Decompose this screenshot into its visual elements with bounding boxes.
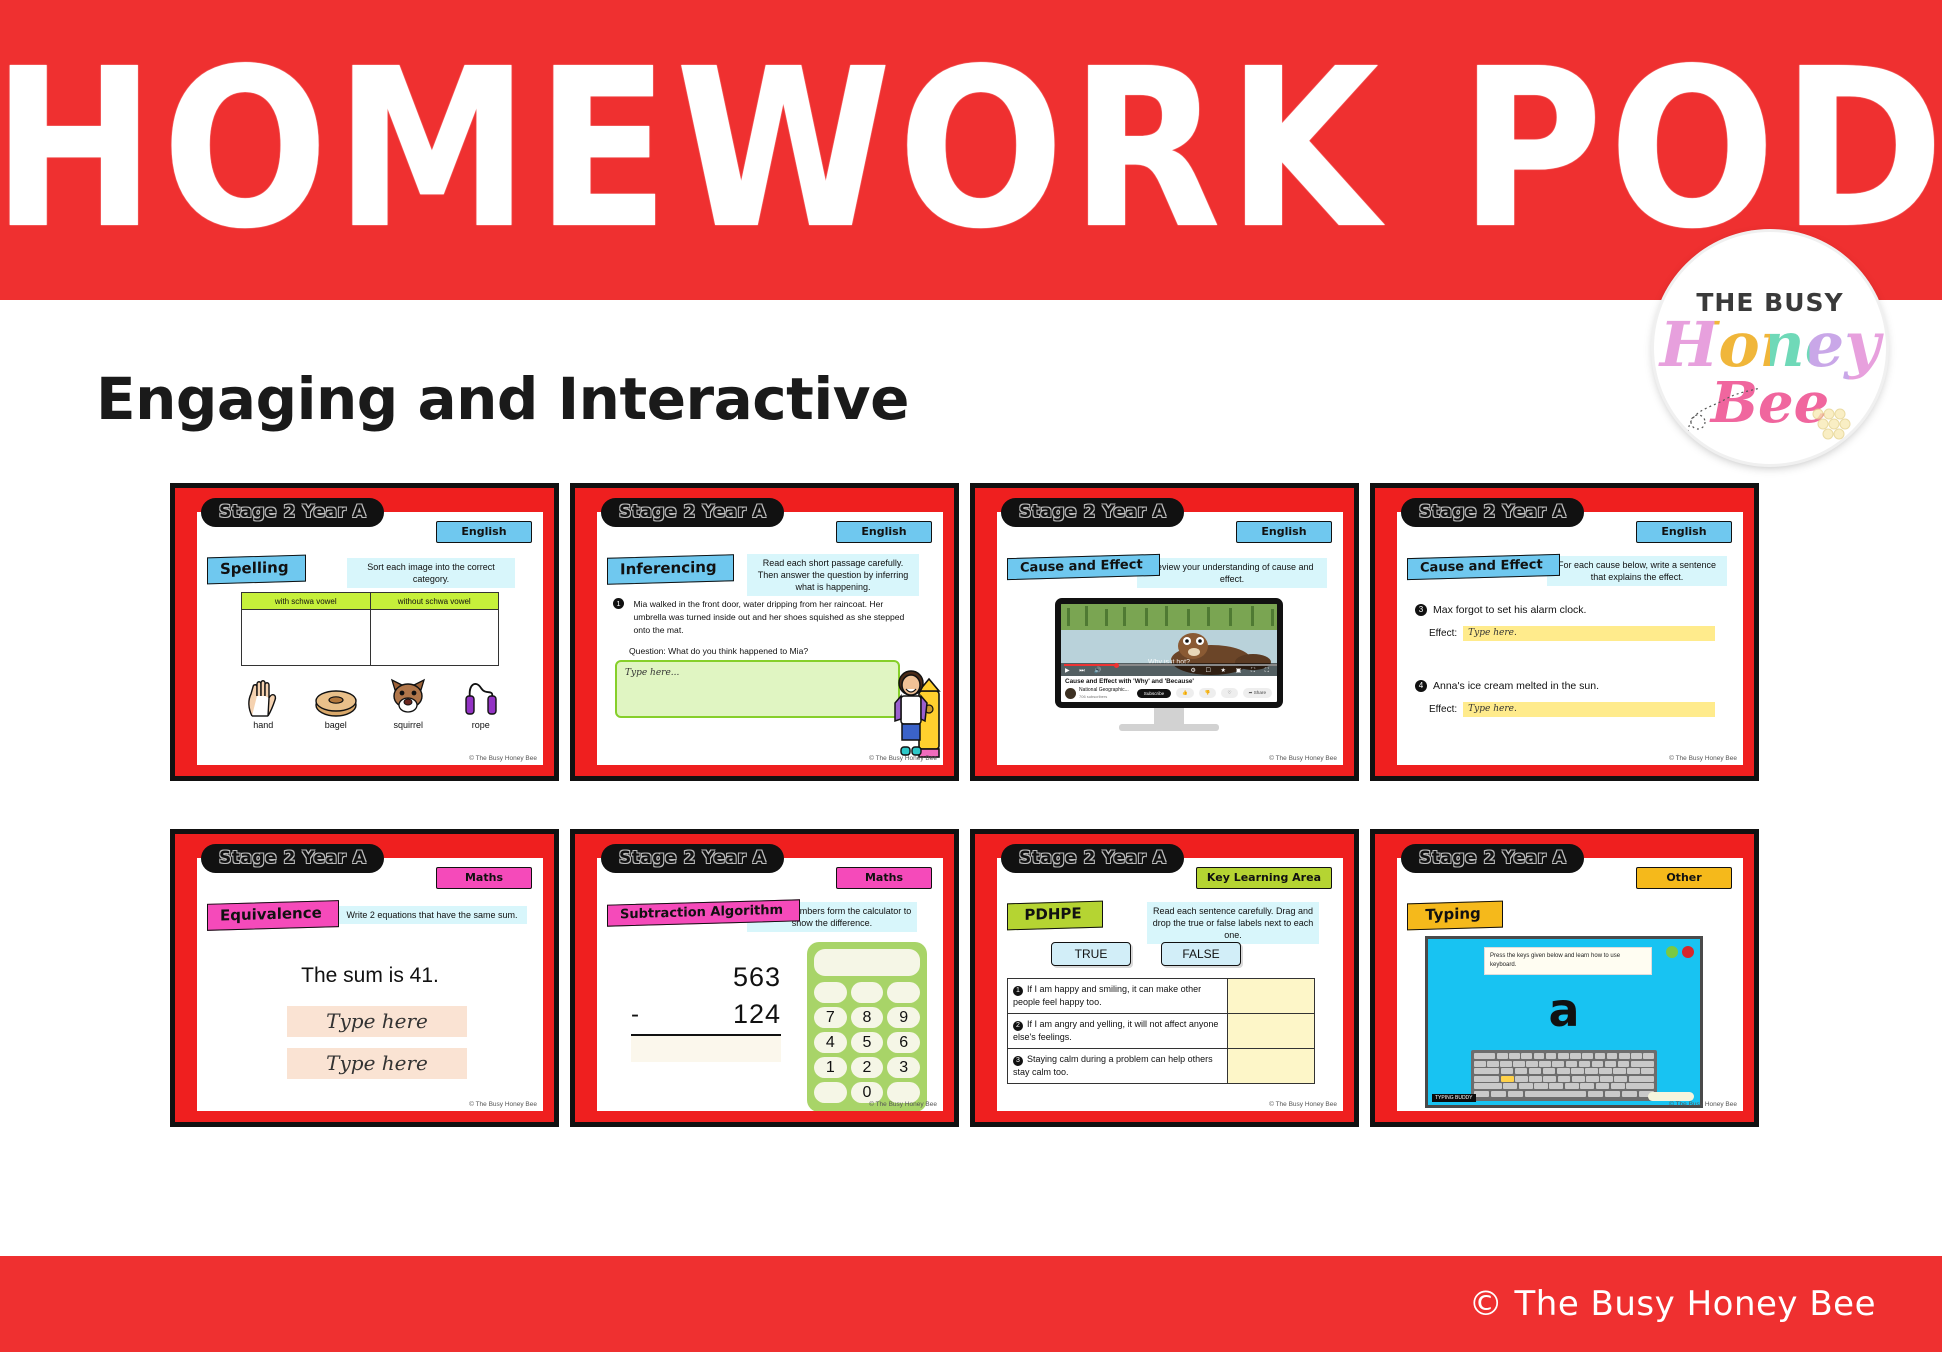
sum-prompt: The sum is 41. <box>197 964 543 988</box>
calc-key-5[interactable]: 5 <box>851 1032 884 1053</box>
label-true[interactable]: TRUE <box>1051 942 1131 966</box>
monitor-screen: Why is it hot? ▶ ⏭ 🔊 ⚙ ☐ ★ ▣ ⛶ ⛶ Cause a… <box>1055 598 1283 708</box>
subject-tag-maths: Maths <box>836 867 932 889</box>
calc-key-4[interactable]: 4 <box>814 1032 847 1053</box>
stage-pill: Stage 2 Year A <box>1001 498 1184 527</box>
calc-key-7[interactable]: 7 <box>814 1007 847 1028</box>
passage-block: 1 Mia walked in the front door, water dr… <box>613 598 913 656</box>
trees-icon <box>1061 604 1277 630</box>
bagel-icon <box>314 688 358 718</box>
computer-monitor: Why is it hot? ▶ ⏭ 🔊 ⚙ ☐ ★ ▣ ⛶ ⛶ Cause a… <box>1055 598 1283 731</box>
topic-tag-pdhpe: PDHPE <box>1007 901 1103 930</box>
hand-icon <box>244 678 282 718</box>
calc-key-9[interactable]: 9 <box>887 1007 920 1028</box>
squirrel-icon <box>388 678 428 718</box>
footer-copyright: © The Busy Honey Bee <box>1469 1284 1876 1324</box>
stage-pill: Stage 2 Year A <box>1401 844 1584 873</box>
subject-tag-maths: Maths <box>436 867 532 889</box>
target-letter: a <box>1428 983 1700 1037</box>
calc-key[interactable] <box>887 1082 920 1103</box>
slide-card-cause-effect-write[interactable]: Stage 2 Year A English Cause and Effect … <box>1370 483 1759 781</box>
drop-zone-with-schwa[interactable] <box>242 610 371 665</box>
instruction-text: Read each short passage carefully. Then … <box>747 554 919 596</box>
slide-card-typing[interactable]: Stage 2 Year A Other Typing Press the ke… <box>1370 829 1759 1127</box>
drop-zone[interactable] <box>1228 979 1314 1013</box>
column-header-with-schwa: with schwa vowel <box>242 593 371 610</box>
instruction-text: Review your understanding of cause and e… <box>1137 558 1327 588</box>
video-scrubber-handle[interactable] <box>1114 663 1119 668</box>
typing-app-brand: TYPING BUDDY <box>1432 1094 1476 1102</box>
subtrahend: 124 <box>733 999 781 1030</box>
channel-subscribers: 706 subscribers <box>1079 694 1129 699</box>
close-icon[interactable] <box>1682 946 1694 958</box>
stage-pill: Stage 2 Year A <box>601 844 784 873</box>
stage-pill: Stage 2 Year A <box>201 844 384 873</box>
card-credit: © The Busy Honey Bee <box>1269 755 1337 762</box>
calculator-display <box>814 949 920 976</box>
slide-thumbnail-grid: Stage 2 Year A English Spelling Sort eac… <box>170 483 1759 1127</box>
answer-textarea[interactable]: Type here... <box>615 660 900 718</box>
footer-banner: © The Busy Honey Bee <box>0 1256 1942 1352</box>
stage-pill: Stage 2 Year A <box>1001 844 1184 873</box>
calc-key-6[interactable]: 6 <box>887 1032 920 1053</box>
virtual-keyboard[interactable] <box>1471 1050 1657 1101</box>
subject-tag-english: English <box>836 521 932 543</box>
instruction-text: Read each sentence carefully. Drag and d… <box>1147 902 1319 944</box>
effect-input[interactable]: Type here. <box>1463 702 1715 717</box>
subject-tag-english: English <box>1236 521 1332 543</box>
picture-label: hand <box>231 720 295 730</box>
calc-key-0[interactable]: 0 <box>851 1082 884 1103</box>
cause-effect-item: 3 Max forgot to set his alarm clock. Eff… <box>1415 604 1715 641</box>
slide-card-inferencing[interactable]: Stage 2 Year A English Inferencing Read … <box>570 483 959 781</box>
slide-card-subtraction[interactable]: Stage 2 Year A Maths Subtraction Algorit… <box>570 829 959 1127</box>
drop-zone[interactable] <box>1228 1014 1314 1048</box>
calc-key[interactable] <box>814 1082 847 1103</box>
calc-key[interactable] <box>887 982 920 1003</box>
instruction-text: Write 2 equations that have the same sum… <box>337 906 527 924</box>
picture-row: hand bagel <box>227 674 517 730</box>
question-number: 1 <box>613 598 624 609</box>
calc-key-3[interactable]: 3 <box>887 1057 920 1078</box>
calc-key[interactable] <box>814 982 847 1003</box>
channel-avatar <box>1065 688 1076 699</box>
card-credit: © The Busy Honey Bee <box>1269 1101 1337 1108</box>
column-header-without-schwa: without schwa vowel <box>371 593 499 610</box>
subject-tag-english: English <box>436 521 532 543</box>
picture-card-hand[interactable]: hand <box>231 674 295 730</box>
picture-card-squirrel[interactable]: squirrel <box>376 674 440 730</box>
topic-tag-cause-and-effect: Cause and Effect <box>1407 554 1560 580</box>
equation-input-2[interactable]: Type here <box>287 1048 467 1079</box>
item-number: 4 <box>1415 680 1427 692</box>
label-false[interactable]: FALSE <box>1161 942 1241 966</box>
statement-number: 3 <box>1013 1056 1023 1066</box>
card-credit: © The Busy Honey Bee <box>1669 755 1737 762</box>
draggable-labels: TRUE FALSE <box>1051 942 1241 966</box>
effect-input[interactable]: Type here. <box>1463 626 1715 641</box>
effect-label: Effect: <box>1429 628 1457 639</box>
topic-tag-cause-and-effect: Cause and Effect <box>1007 554 1160 580</box>
statement-text: 1If I am happy and smiling, it can make … <box>1008 979 1228 1013</box>
card-credit: © The Busy Honey Bee <box>469 1101 537 1108</box>
topic-tag-inferencing: Inferencing <box>607 554 734 584</box>
forest-background <box>1061 604 1277 630</box>
video-action-buttons[interactable]: 👍 👎 ♡ ➦ Share <box>1176 688 1272 698</box>
honeycomb-icon <box>1808 402 1864 442</box>
topic-tag-typing: Typing <box>1407 901 1503 930</box>
score-display <box>1648 1092 1694 1101</box>
effect-label: Effect: <box>1429 704 1457 715</box>
statements-table: 1If I am happy and smiling, it can make … <box>1007 978 1315 1084</box>
question-text: Question: What do you think happened to … <box>629 646 913 656</box>
passage-text: Mia walked in the front door, water drip… <box>633 598 905 637</box>
picture-label: rope <box>449 720 513 730</box>
calc-key-2[interactable]: 2 <box>851 1057 884 1078</box>
calc-key-1[interactable]: 1 <box>814 1057 847 1078</box>
slide-card-pdhpe[interactable]: Stage 2 Year A Key Learning Area PDHPE R… <box>970 829 1359 1127</box>
player-option-icons[interactable]: ⚙ ☐ ★ ▣ ⛶ ⛶ <box>1190 667 1273 675</box>
calculator[interactable]: 7 8 9 4 5 6 1 2 3 0 <box>807 942 927 1111</box>
card-credit: © The Busy Honey Bee <box>469 755 537 762</box>
instruction-text: For each cause below, write a sentence t… <box>1547 556 1727 586</box>
header-banner: HOMEWORK POD <box>0 0 1942 300</box>
subtraction-problem: 563 - 124 <box>631 962 781 1062</box>
card-credit: © The Busy Honey Bee <box>1669 1101 1737 1108</box>
subscribe-button[interactable]: Subscribe <box>1137 689 1171 698</box>
cause-text: Max forgot to set his alarm clock. <box>1433 604 1586 616</box>
item-number: 3 <box>1415 604 1427 616</box>
monitor-neck <box>1154 708 1184 724</box>
drop-zone[interactable] <box>1228 1049 1314 1083</box>
picture-label: bagel <box>304 720 368 730</box>
monitor-base <box>1119 724 1219 731</box>
slide-card-equivalence[interactable]: Stage 2 Year A Maths Equivalence Write 2… <box>170 829 559 1127</box>
slide-card-cause-effect-video[interactable]: Stage 2 Year A English Cause and Effect … <box>970 483 1359 781</box>
statement-text: 2If I am angry and yelling, it will not … <box>1008 1014 1228 1048</box>
share-icon[interactable]: ➦ Share <box>1243 688 1272 698</box>
statement-number: 2 <box>1013 1021 1023 1031</box>
jump-rope-icon <box>460 676 502 718</box>
subject-tag-key-learning-area: Key Learning Area <box>1196 867 1332 889</box>
topic-tag-equivalence: Equivalence <box>207 900 339 930</box>
student-illustration <box>889 663 943 759</box>
channel-name: National Geographic... <box>1079 687 1129 694</box>
table-row: 2If I am angry and yelling, it will not … <box>1008 1014 1314 1049</box>
video-title: Cause and Effect with 'Why' and 'Because… <box>1065 678 1277 685</box>
sorting-table[interactable]: with schwa vowel without schwa vowel <box>241 592 499 666</box>
slide-card-spelling[interactable]: Stage 2 Year A English Spelling Sort eac… <box>170 483 559 781</box>
highlighted-key-a[interactable] <box>1501 1076 1514 1082</box>
typing-instruction: Press the keys given below and learn how… <box>1484 947 1652 975</box>
like-icon[interactable]: 👍 <box>1176 688 1194 698</box>
save-icon[interactable]: ♡ <box>1221 688 1237 698</box>
instruction-text: Sort each image into the correct categor… <box>347 558 515 588</box>
playback-icons[interactable]: ▶ ⏭ 🔊 <box>1065 667 1106 675</box>
table-row: 3Staying calm during a problem can help … <box>1008 1049 1314 1083</box>
equation-input-1[interactable]: Type here <box>287 1006 467 1037</box>
cause-text: Anna's ice cream melted in the sun. <box>1433 680 1599 692</box>
bee-trail-icon <box>1684 376 1774 436</box>
cause-effect-item: 4 Anna's ice cream melted in the sun. Ef… <box>1415 680 1715 717</box>
answer-placeholder: Type here... <box>625 668 679 678</box>
stage-pill: Stage 2 Year A <box>201 498 384 527</box>
card-credit: © The Busy Honey Bee <box>869 755 937 762</box>
stage-pill: Stage 2 Year A <box>601 498 784 527</box>
picture-card-bagel[interactable]: bagel <box>304 674 368 730</box>
minuend: 563 <box>631 962 781 993</box>
subject-tag-english: English <box>1636 521 1732 543</box>
video-player[interactable]: Why is it hot? ▶ ⏭ 🔊 ⚙ ☐ ★ ▣ ⛶ ⛶ <box>1061 604 1277 676</box>
video-metadata: Cause and Effect with 'Why' and 'Because… <box>1061 676 1277 708</box>
typing-app[interactable]: Press the keys given below and learn how… <box>1425 936 1703 1108</box>
picture-label: squirrel <box>376 720 440 730</box>
brand-logo: THE BUSY Honey Bee <box>1654 232 1886 464</box>
table-row: 1If I am happy and smiling, it can make … <box>1008 979 1314 1014</box>
section-heading: Engaging and Interactive <box>96 365 909 433</box>
video-controls[interactable]: ▶ ⏭ 🔊 ⚙ ☐ ★ ▣ ⛶ ⛶ <box>1061 663 1277 676</box>
statement-text: 3Staying calm during a problem can help … <box>1008 1049 1228 1083</box>
operator: - <box>631 1001 639 1029</box>
next-icon[interactable] <box>1666 946 1678 958</box>
calc-key[interactable] <box>851 982 884 1003</box>
statement-number: 1 <box>1013 986 1023 996</box>
calc-key-8[interactable]: 8 <box>851 1007 884 1028</box>
subject-tag-other: Other <box>1636 867 1732 889</box>
dislike-icon[interactable]: 👎 <box>1199 688 1217 698</box>
card-credit: © The Busy Honey Bee <box>869 1101 937 1108</box>
stage-pill: Stage 2 Year A <box>1401 498 1584 527</box>
drop-zone-without-schwa[interactable] <box>371 610 499 665</box>
page-title: HOMEWORK POD <box>0 40 1942 260</box>
answer-drop-zone[interactable] <box>631 1036 781 1062</box>
topic-tag-spelling: Spelling <box>207 555 306 585</box>
picture-card-rope[interactable]: rope <box>449 674 513 730</box>
video-progress-bar[interactable] <box>1064 664 1277 666</box>
